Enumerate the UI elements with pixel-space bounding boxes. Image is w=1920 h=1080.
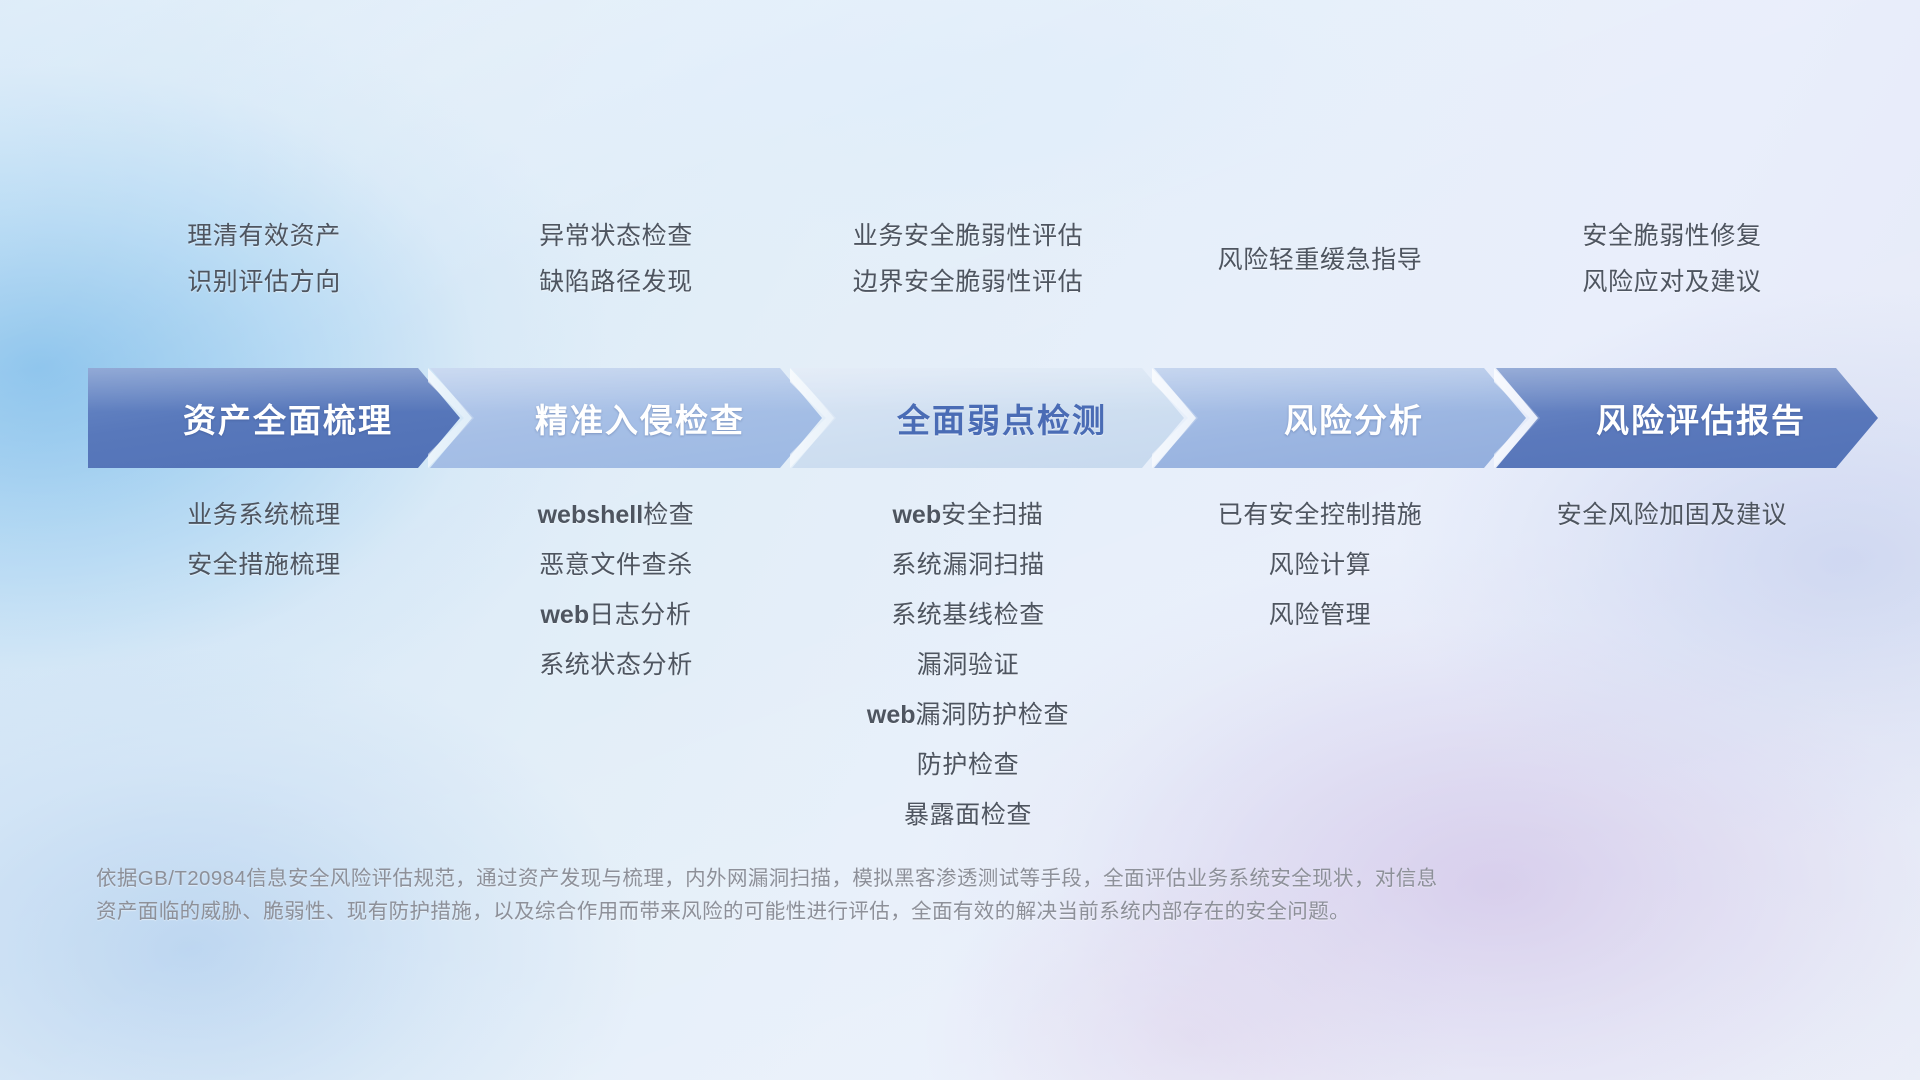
- list-item: 漏洞验证: [917, 650, 1019, 680]
- top-captions-asset-inventory: 理清有效资产 识别评估方向: [88, 220, 440, 298]
- footer-line: 依据GB/T20984信息安全风险评估规范，通过资产发现与梳理，内外网漏洞扫描，…: [96, 862, 1616, 895]
- list-item: webshell检查: [538, 500, 695, 530]
- list-item: 防护检查: [917, 750, 1019, 780]
- top-caption: 风险轻重缓急指导: [1218, 244, 1423, 276]
- list-item: 业务系统梳理: [187, 500, 341, 530]
- list-item: 暴露面检查: [904, 800, 1032, 830]
- stage-arrow-intrusion-check[interactable]: 精准入侵检查: [430, 368, 822, 468]
- list-item: 恶意文件查杀: [539, 550, 693, 580]
- list-item-label: 漏洞防护检查: [916, 701, 1070, 729]
- list-item: 风险计算: [1269, 550, 1371, 580]
- top-captions-weakness-detection: 业务安全脆弱性评估 边界安全脆弱性评估: [792, 220, 1144, 298]
- list-item: 安全风险加固及建议: [1557, 500, 1787, 530]
- list-item-latin: web: [540, 601, 589, 629]
- top-captions-intrusion-check: 异常状态检查 缺陷路径发现: [440, 220, 792, 298]
- details-weakness-detection: web安全扫描 系统漏洞扫描 系统基线检查 漏洞验证 web漏洞防护检查 防护检…: [792, 500, 1144, 830]
- list-item-latin: webshell: [538, 501, 644, 529]
- process-arrow-band: 资产全面梳理 精准入侵检查 全面弱点检测 风险分析 风险评估报告: [88, 368, 1848, 468]
- list-item: web日志分析: [540, 600, 691, 630]
- stage-arrow-risk-report[interactable]: 风险评估报告: [1496, 368, 1878, 468]
- top-caption: 风险应对及建议: [1582, 266, 1761, 298]
- details-risk-report: 安全风险加固及建议: [1496, 500, 1848, 530]
- details-intrusion-check: webshell检查 恶意文件查杀 web日志分析 系统状态分析: [440, 500, 792, 680]
- list-item-label: 日志分析: [589, 601, 691, 629]
- list-item: 安全措施梳理: [187, 550, 341, 580]
- list-item-latin: web: [867, 701, 916, 729]
- list-item: 系统漏洞扫描: [891, 550, 1045, 580]
- stage-arrow-label: 精准入侵检查: [535, 394, 745, 442]
- stage-arrow-label: 全面弱点检测: [897, 394, 1107, 442]
- stage-arrow-label: 风险分析: [1284, 394, 1424, 442]
- top-caption: 边界安全脆弱性评估: [853, 266, 1083, 298]
- diagram-content: 理清有效资产 识别评估方向 异常状态检查 缺陷路径发现 业务安全脆弱性评估 边界…: [0, 0, 1920, 1080]
- top-captions-risk-analysis: 风险轻重缓急指导: [1144, 220, 1496, 298]
- slide-canvas: 理清有效资产 识别评估方向 异常状态检查 缺陷路径发现 业务安全脆弱性评估 边界…: [0, 0, 1920, 1080]
- details-risk-analysis: 已有安全控制措施 风险计算 风险管理: [1144, 500, 1496, 630]
- stage-arrow-label: 资产全面梳理: [183, 394, 393, 442]
- list-item: 已有安全控制措施: [1218, 500, 1423, 530]
- list-item: 风险管理: [1269, 600, 1371, 630]
- list-item-label: 安全扫描: [941, 501, 1043, 529]
- list-item: web安全扫描: [892, 500, 1043, 530]
- stage-arrow-label: 风险评估报告: [1596, 394, 1806, 442]
- top-caption: 安全脆弱性修复: [1582, 220, 1761, 252]
- list-item: 系统状态分析: [539, 650, 693, 680]
- bottom-details-row: 业务系统梳理 安全措施梳理 webshell检查 恶意文件查杀 web日志分析 …: [88, 500, 1848, 830]
- list-item: 系统基线检查: [891, 600, 1045, 630]
- top-caption: 缺陷路径发现: [539, 266, 693, 298]
- top-captions-risk-report: 安全脆弱性修复 风险应对及建议: [1496, 220, 1848, 298]
- top-caption: 异常状态检查: [539, 220, 693, 252]
- list-item-latin: web: [892, 501, 941, 529]
- stage-arrow-risk-analysis[interactable]: 风险分析: [1154, 368, 1526, 468]
- footer-description: 依据GB/T20984信息安全风险评估规范，通过资产发现与梳理，内外网漏洞扫描，…: [96, 862, 1616, 928]
- stage-arrow-weakness-detection[interactable]: 全面弱点检测: [792, 368, 1184, 468]
- top-caption: 理清有效资产: [187, 220, 341, 252]
- top-captions-row: 理清有效资产 识别评估方向 异常状态检查 缺陷路径发现 业务安全脆弱性评估 边界…: [88, 220, 1848, 298]
- details-asset-inventory: 业务系统梳理 安全措施梳理: [88, 500, 440, 580]
- footer-line: 资产面临的威胁、脆弱性、现有防护措施，以及综合作用而带来风险的可能性进行评估，全…: [96, 895, 1616, 928]
- top-caption: 业务安全脆弱性评估: [853, 220, 1083, 252]
- stage-arrow-asset-inventory[interactable]: 资产全面梳理: [88, 368, 460, 468]
- list-item-label: 检查: [643, 501, 694, 529]
- list-item: web漏洞防护检查: [867, 700, 1069, 730]
- top-caption: 识别评估方向: [187, 266, 341, 298]
